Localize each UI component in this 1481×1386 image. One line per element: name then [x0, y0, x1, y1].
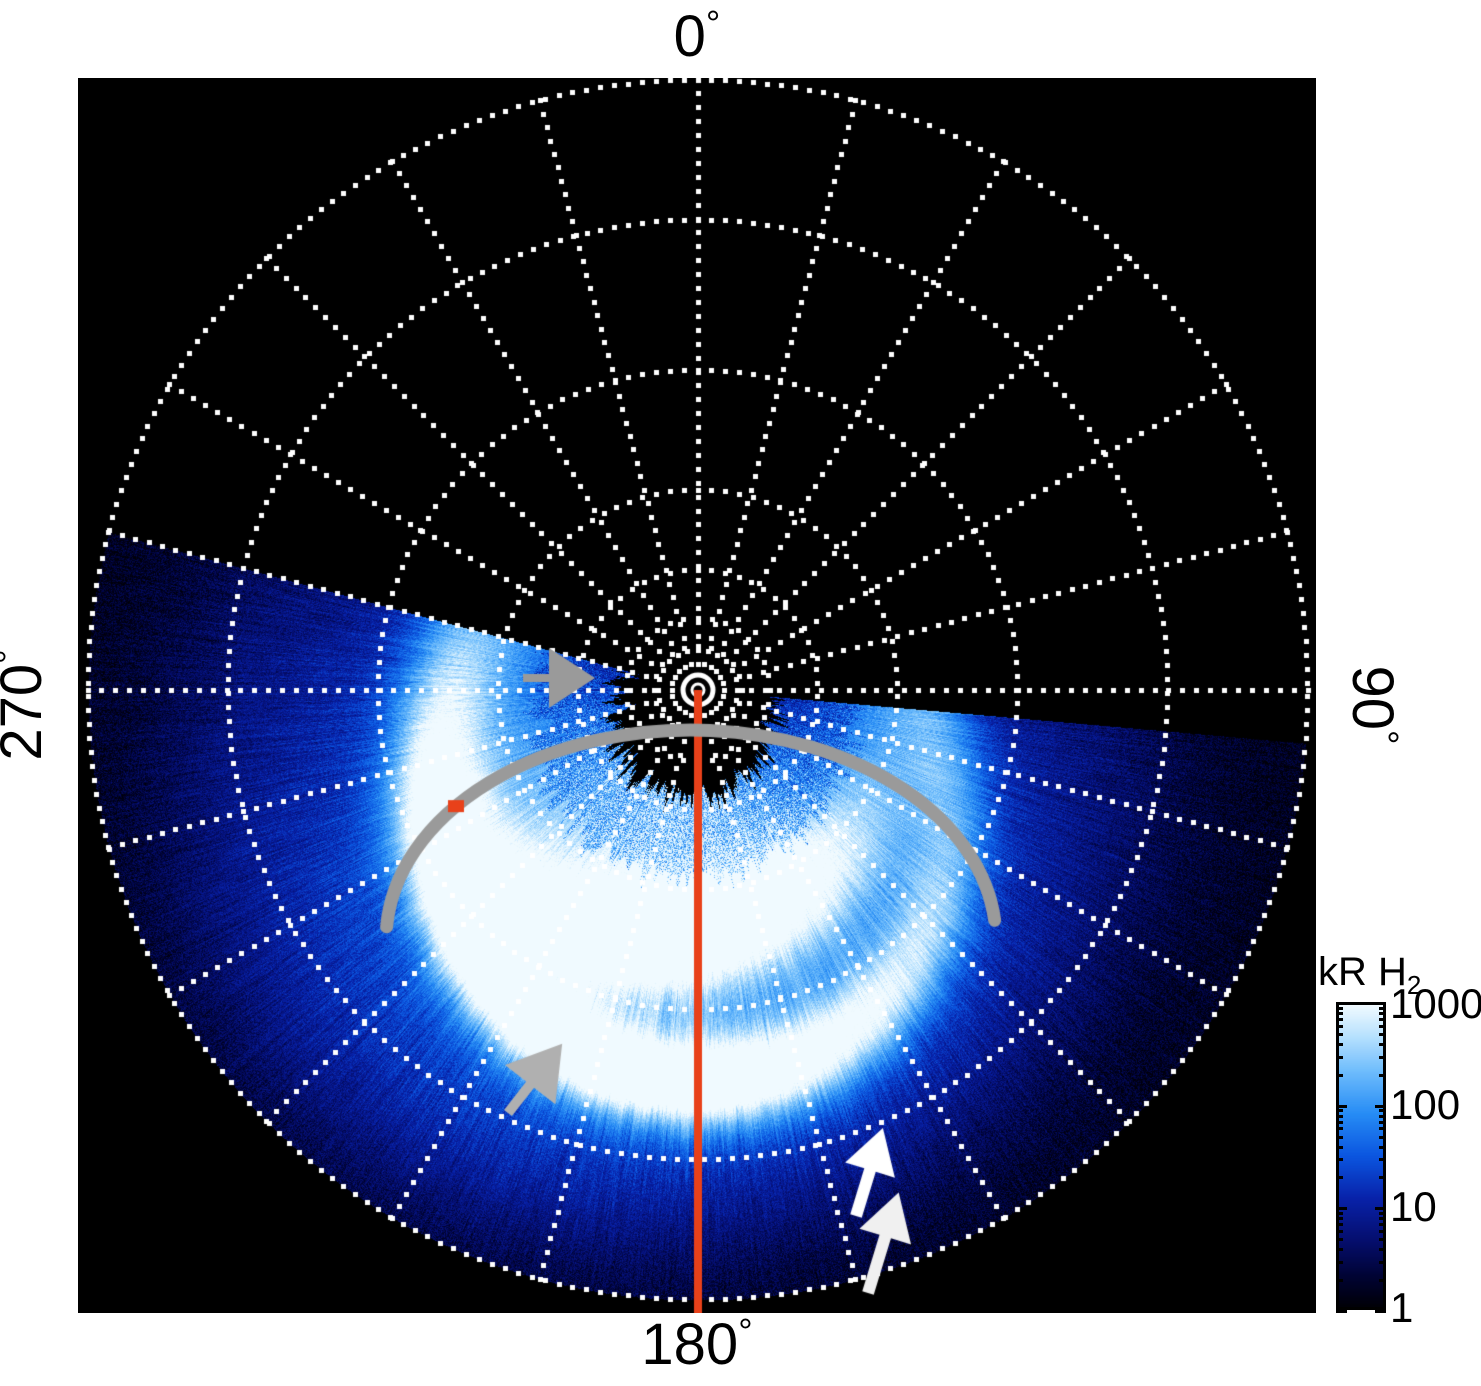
axis-label-270deg: 270°	[0, 645, 51, 765]
colorbar-major-tick	[1375, 1310, 1386, 1313]
colorbar-swatch	[1336, 1002, 1386, 1310]
colorbar-tick-label: 100	[1390, 1084, 1460, 1126]
polar-plot-panel	[78, 78, 1316, 1313]
colorbar-tick-label: 1000	[1390, 983, 1481, 1025]
colorbar-tick-label: 1	[1390, 1287, 1413, 1329]
axis-label-180deg: 180°	[0, 1316, 1394, 1374]
figure-root: 0° 180° 270° 90° kR H2 1000100101	[0, 0, 1481, 1386]
axis-label-0deg: 0°	[0, 8, 1394, 66]
axis-label-90deg: 90°	[1343, 645, 1401, 765]
annotation-overlay-layer	[78, 78, 1316, 1313]
colorbar-tick-label: 10	[1390, 1186, 1437, 1228]
colorbar: kR H2 1000100101	[1318, 950, 1481, 1330]
colorbar-gradient	[1339, 1005, 1383, 1307]
colorbar-major-tick	[1336, 1310, 1347, 1313]
colorbar-tick-labels: 1000100101	[1390, 1002, 1481, 1310]
